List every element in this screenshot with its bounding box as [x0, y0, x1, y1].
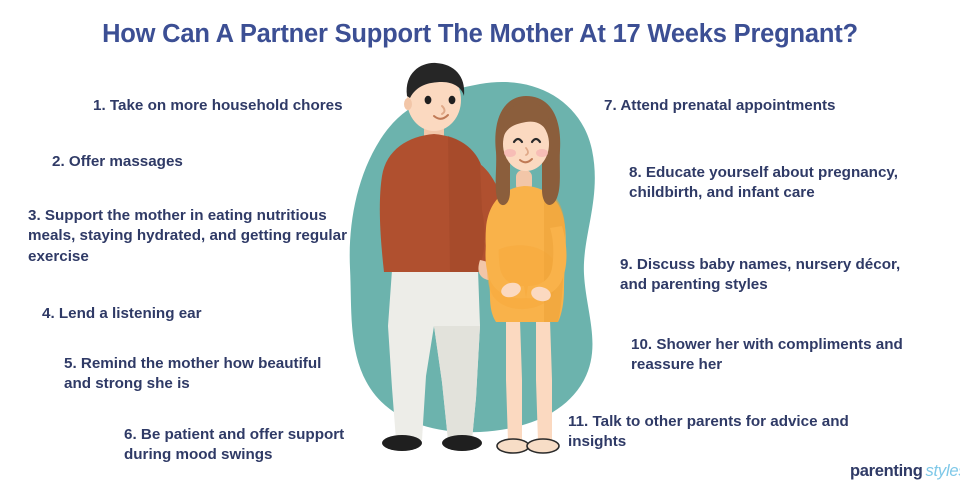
tip-item-6: 6. Be patient and offer support during m…	[124, 425, 384, 466]
brand-logo-primary: parenting	[850, 462, 922, 480]
woman-left-shoe	[497, 439, 529, 453]
tip-item-4: 4. Lend a listening ear	[42, 304, 202, 324]
man-right-shoe	[442, 435, 482, 451]
page-title: How Can A Partner Support The Mother At …	[0, 20, 960, 49]
tip-item-10: 10. Shower her with compliments and reas…	[631, 335, 931, 376]
tip-item-9: 9. Discuss baby names, nursery décor, an…	[620, 255, 920, 296]
woman-left-cheek	[504, 149, 516, 157]
tip-item-7: 7. Attend prenatal appointments	[604, 96, 836, 116]
tip-item-3: 3. Support the mother in eating nutritio…	[28, 206, 348, 267]
brand-logo-secondary: styles	[925, 462, 960, 480]
tip-item-8: 8. Educate yourself about pregnancy, chi…	[629, 163, 959, 204]
man-ear	[404, 98, 412, 110]
tip-item-1: 1. Take on more household chores	[93, 96, 343, 116]
tip-item-11: 11. Talk to other parents for advice and…	[568, 412, 898, 453]
tip-item-5: 5. Remind the mother how beautiful and s…	[64, 354, 334, 395]
brand-logo: parentingstyles	[850, 462, 960, 481]
woman-right-cheek	[536, 149, 548, 157]
man-left-eye	[425, 96, 432, 104]
man-left-shoe	[382, 435, 422, 451]
tip-item-2: 2. Offer massages	[52, 152, 183, 172]
woman-right-shoe	[527, 439, 559, 453]
infographic-canvas: How Can A Partner Support The Mother At …	[0, 0, 960, 492]
man-right-eye	[449, 96, 456, 104]
